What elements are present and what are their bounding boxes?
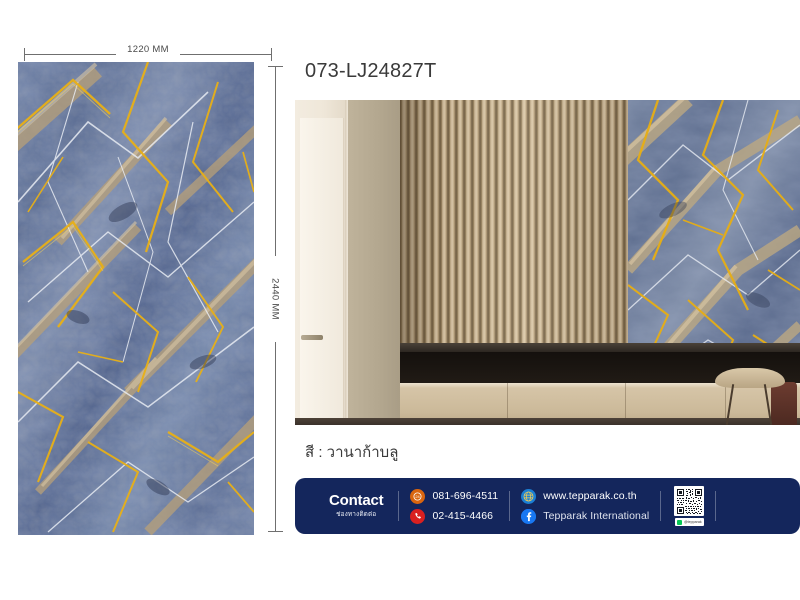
facebook-row[interactable]: Tepparak International [521,509,649,524]
24h-service-icon: 24 [410,489,425,504]
product-spec-sheet: 1220 MM [0,0,800,600]
line-id-text: @tepparak [684,520,702,524]
phone-number: 081-696-4511 [432,490,498,502]
stool-seat [715,368,785,388]
product-info-panel: 073-LJ24827T [290,0,800,600]
room-photo [295,100,800,425]
height-line-bottom [275,342,276,532]
wood-slat-shading [400,100,628,348]
contact-bar: Contact ช่องทางติดต่อ 24 081-696-4511 [295,478,800,534]
product-code: 073-LJ24827T [305,60,436,83]
door-handle [301,335,323,340]
qr-code-image [676,488,703,515]
24h-glyph: 24 [413,492,422,501]
width-dimension-label: 1220 MM [124,44,172,55]
divider [660,491,661,521]
website-row[interactable]: www.tepparak.co.th [521,489,649,504]
height-dimension-label: 2440 MM [267,276,284,322]
phone-row[interactable]: 02-415-4466 [410,509,498,524]
middle-wall [348,100,400,425]
contact-subtitle: ช่องทางติดต่อ [329,509,383,519]
divider [715,491,716,521]
line-id-label: @tepparak [675,518,704,526]
divider [398,491,399,521]
width-dimension: 1220 MM [24,44,272,64]
contact-title: Contact [329,493,383,509]
facebook-glyph [521,509,536,524]
facebook-page-name: Tepparak International [543,510,649,522]
width-line-left [24,54,116,55]
line-icon [677,520,682,525]
stool-backrest [771,382,797,425]
height-line-top [275,66,276,256]
phone-handset-glyph [414,512,422,520]
globe-glyph [523,491,534,502]
facebook-icon [521,509,536,524]
divider [509,491,510,521]
color-label: สี : วานาก้าบลู [305,440,398,464]
svg-text:24: 24 [416,493,421,498]
qr-code-block[interactable]: @tepparak [674,486,704,526]
qr-code-frame [674,486,704,516]
tile-swatch-panel: 1220 MM [0,0,290,600]
phone-row[interactable]: 24 081-696-4511 [410,489,498,504]
online-links: www.tepparak.co.th Tepparak Internationa… [521,489,649,524]
height-dimension: 2440 MM [262,66,288,532]
phone-number: 02-415-4466 [432,510,493,522]
globe-icon [521,489,536,504]
width-tick-right [271,48,272,61]
width-line-right [180,54,272,55]
stool-leg [726,384,734,425]
tile-swatch-image [18,62,254,535]
contact-title-block: Contact ช่องทางติดต่อ [307,493,387,520]
door-panel [300,118,344,418]
website-url: www.tepparak.co.th [543,490,636,502]
phone-list: 24 081-696-4511 02-415-4466 [410,489,498,524]
marble-texture-graphic [18,62,254,535]
shelf-ledge [400,343,800,352]
height-tick-bottom [268,531,283,532]
stool [715,368,785,425]
phone-icon [410,509,425,524]
